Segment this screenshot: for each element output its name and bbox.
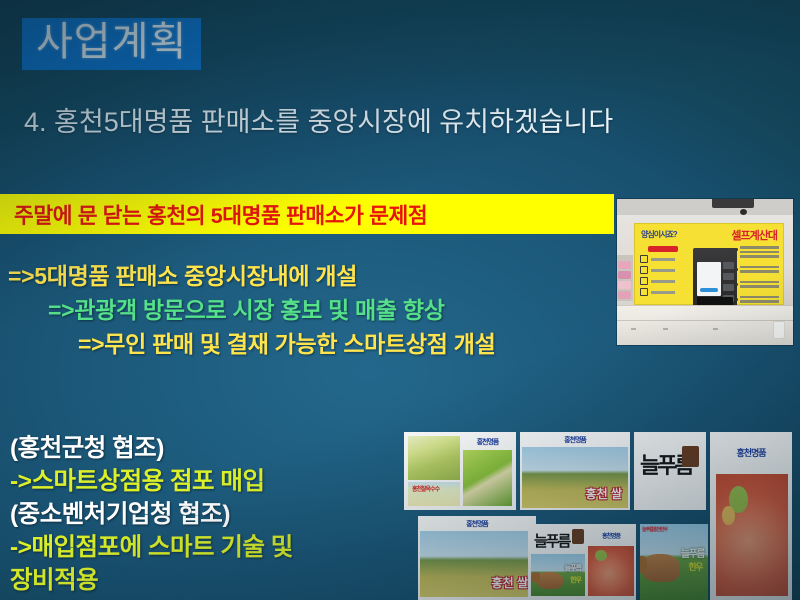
self-checkout-kiosk-photo: 양심이시죠? 셀프계산대 [617, 199, 793, 345]
bag-icon [640, 277, 648, 285]
beef-platter-photo [716, 474, 788, 596]
cow-icon [537, 572, 563, 589]
kiosk-sign-header: 양심이시죠? 셀프계산대 [639, 227, 779, 243]
product-card-corn: 홍천찰옥수수 홍천명품 [404, 432, 516, 510]
page-title-box: 사업계획 [22, 18, 201, 70]
nurum-calligraphy-2: 늘푸름 [534, 530, 569, 551]
kiosk-side-shelf [617, 255, 633, 301]
headline-text: 4. 홍천5대명품 판매소를 중앙시장에 유치하겠습니다 [24, 100, 613, 139]
kiosk-sign-sub: 양심이시죠? [641, 229, 677, 240]
product-card-rice-2: 홍천명품 홍천 쌀 [418, 516, 536, 600]
kiosk-monitor [712, 199, 754, 208]
kiosk-ceiling [617, 199, 793, 215]
corn-cut-photo [463, 450, 512, 506]
kiosk-step-4 [640, 288, 686, 296]
kiosk-notes-column [735, 246, 779, 301]
rice-label-2: 홍천 쌀 [492, 574, 528, 591]
rice-field-photo-2: 홍천 쌀 [420, 531, 534, 597]
slide-canvas: 사업계획 4. 홍천5대명품 판매소를 중앙시장에 유치하겠습니다 주말에 문 … [0, 0, 800, 600]
hanwoo-cow-photo-1: 늘푸름 한우 [531, 554, 585, 596]
cooperation-line-4: ->매입점포에 스마트 기술 및 [10, 531, 293, 564]
product-card-nurum-hanwoo: 늘푸름 늘푸름 한우 홍천명품 [528, 524, 636, 600]
problem-banner-text: 주말에 문 닫는 홍천의 5대명품 판매소가 문제점 [0, 199, 427, 230]
cart-icon [640, 288, 648, 296]
cow-icon-large [642, 554, 680, 582]
product-image-grid: 홍천찰옥수수 홍천명품 홍천명품 홍천 쌀 늘푸름 홍천명품 [404, 432, 792, 600]
kiosk-step-3 [640, 277, 686, 285]
nurum-seal-icon-2 [572, 529, 584, 544]
problem-banner: 주말에 문 닫는 홍천의 5대명품 판매소가 문제점 [0, 194, 614, 234]
kiosk-step-2 [640, 266, 686, 274]
bullet-line-1: =>5대명품 판매소 중앙시장내에 개설 [8, 257, 357, 291]
rice-field-photo-1: 홍천 쌀 [522, 447, 628, 508]
kiosk-steps-tag [648, 246, 678, 252]
brand-logo-2: 홍천명품 [520, 434, 630, 446]
rice-label-1: 홍천 쌀 [586, 485, 622, 502]
bullet-line-3: =>무인 판매 및 결재 가능한 스마트상점 개설 [78, 325, 495, 359]
brand-logo-4: 홍천명품 [418, 518, 536, 530]
kiosk-screen-button [700, 288, 718, 292]
beef-photo-small [588, 546, 634, 596]
product-card-beef-platter: 홍천명품 [710, 432, 792, 600]
barcode-icon [640, 266, 648, 274]
kiosk-step-1 [640, 255, 686, 263]
kiosk-sign-main: 셀프계산대 [731, 227, 777, 243]
brand-logo-1: 홍천명품 [463, 436, 512, 448]
kiosk-instruction-board: 양심이시죠? 셀프계산대 [634, 223, 784, 305]
corn-field-photo: 홍천찰옥수수 [408, 482, 460, 506]
cooperation-block: (홍천군청 협조) ->스마트상점용 점포 매입 (중소벤처기업청 협조) ->… [10, 432, 293, 597]
basket-icon [640, 255, 648, 263]
page-title: 사업계획 [36, 20, 187, 64]
kiosk-steps-column [640, 246, 686, 301]
corn-photo [408, 436, 460, 480]
cooperation-line-5: 장비적용 [10, 564, 293, 597]
product-card-hanwoo-cow: 늘푸름홍천한우 늘푸름 한우 [640, 524, 708, 600]
bullet-line-2: =>관광객 방문으로 시장 홍보 및 매출 향상 [48, 291, 445, 325]
kiosk-cup [773, 321, 785, 339]
cooperation-line-1: (홍천군청 협조) [10, 432, 293, 465]
product-card-nurum-logo: 늘푸름 [634, 432, 706, 510]
brand-logo-5: 홍천명품 [588, 528, 634, 542]
product-card-rice-1: 홍천명품 홍천 쌀 [520, 432, 630, 510]
kiosk-touchscreen [697, 262, 721, 296]
kiosk-counter [617, 305, 793, 345]
brand-logo-3: 홍천명품 [710, 444, 792, 460]
cooperation-line-3: (중소벤처기업청 협조) [10, 498, 293, 531]
nurum-seal-icon [682, 446, 699, 467]
cooperation-line-2: ->스마트상점용 점포 매입 [10, 465, 293, 498]
